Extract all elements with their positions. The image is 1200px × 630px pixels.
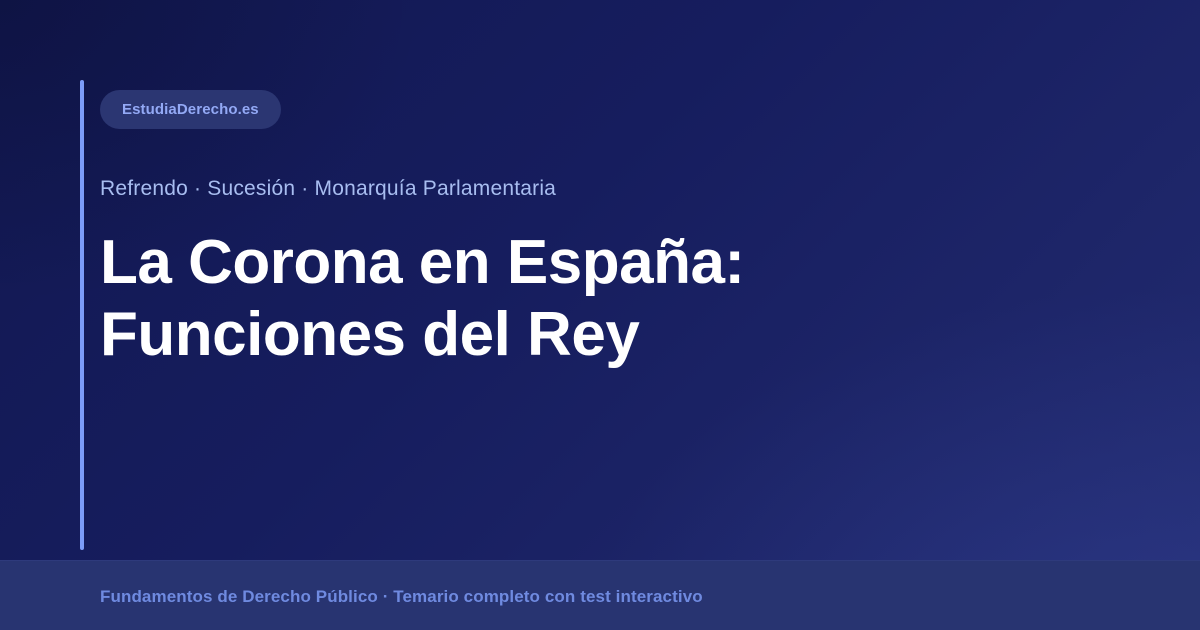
footer-band: Fundamentos de Derecho Público · Temario… xyxy=(0,560,1200,630)
site-badge: EstudiaDerecho.es xyxy=(100,90,281,129)
social-share-card: EstudiaDerecho.es Refrendo · Sucesión · … xyxy=(0,0,1200,630)
left-accent-bar xyxy=(80,80,84,550)
card-content: EstudiaDerecho.es Refrendo · Sucesión · … xyxy=(100,90,1060,371)
topic-kicker: Refrendo · Sucesión · Monarquía Parlamen… xyxy=(100,177,1060,201)
page-title: La Corona en España: Funciones del Rey xyxy=(100,227,1030,371)
footer-tagline: Fundamentos de Derecho Público · Temario… xyxy=(100,587,703,607)
